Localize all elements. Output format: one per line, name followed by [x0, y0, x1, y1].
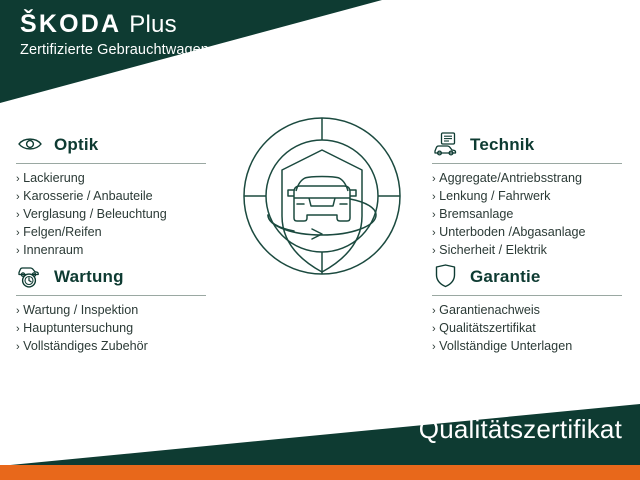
list-item-label: Bremsanlage [439, 206, 513, 224]
section-header: Optik [16, 130, 216, 158]
car-document-icon [432, 131, 462, 157]
list-item-label: Lackierung [23, 170, 85, 188]
brand-logo-line: ŠKODA Plus [20, 12, 209, 37]
list-item: ›Innenraum [16, 242, 216, 260]
car-clock-icon [16, 263, 46, 289]
section-title: Garantie [470, 268, 541, 285]
list-item-label: Lenkung / Fahrwerk [439, 188, 550, 206]
chevron-right-icon: › [432, 244, 436, 260]
section-divider [432, 295, 622, 296]
orange-accent-bar [0, 465, 640, 480]
list-item-label: Garantienachweis [439, 302, 540, 320]
chevron-right-icon: › [432, 172, 436, 188]
chevron-right-icon: › [432, 340, 436, 356]
list-item: ›Sicherheit / Elektrik [432, 242, 632, 260]
chevron-right-icon: › [432, 208, 436, 224]
list-item-label: Vollständiges Zubehör [23, 338, 148, 356]
section-divider [16, 163, 206, 164]
chevron-right-icon: › [432, 226, 436, 242]
brand-logo: ŠKODA Plus Zertifizierte Gebrauchtwagen [20, 12, 209, 58]
chevron-right-icon: › [16, 190, 20, 206]
chevron-right-icon: › [16, 304, 20, 320]
eye-icon [16, 131, 46, 157]
list-item: ›Garantienachweis [432, 302, 632, 320]
list-item-label: Qualitätszertifikat [439, 320, 536, 338]
list-item-label: Sicherheit / Elektrik [439, 242, 547, 260]
section-item-list: ›Garantienachweis ›Qualitätszertifikat ›… [432, 302, 632, 356]
list-item-label: Aggregate/Antriebsstrang [439, 170, 582, 188]
section-item-list: ›Aggregate/Antriebsstrang ›Lenkung / Fah… [432, 170, 632, 259]
chevron-right-icon: › [16, 172, 20, 188]
list-item: ›Felgen/Reifen [16, 224, 216, 242]
chevron-right-icon: › [432, 304, 436, 320]
brand-suffix: Plus [129, 13, 177, 37]
section-divider [16, 295, 206, 296]
brand-subtitle: Zertifizierte Gebrauchtwagen [20, 42, 209, 58]
certificate-page: ŠKODA Plus Zertifizierte Gebrauchtwagen … [0, 0, 640, 480]
list-item-label: Karosserie / Anbauteile [23, 188, 153, 206]
list-item: ›Unterboden /Abgasanlage [432, 224, 632, 242]
list-item: ›Wartung / Inspektion [16, 302, 216, 320]
list-item-label: Wartung / Inspektion [23, 302, 138, 320]
chevron-right-icon: › [432, 190, 436, 206]
list-item: ›Aggregate/Antriebsstrang [432, 170, 632, 188]
section-wartung: Wartung ›Wartung / Inspektion ›Hauptunte… [16, 262, 216, 356]
chevron-right-icon: › [16, 340, 20, 356]
list-item-label: Verglasung / Beleuchtung [23, 206, 167, 224]
section-title: Technik [470, 136, 534, 153]
section-header: Garantie [432, 262, 632, 290]
list-item: ›Verglasung / Beleuchtung [16, 206, 216, 224]
shield-icon [432, 263, 462, 289]
list-item: ›Vollständiges Zubehör [16, 338, 216, 356]
section-title: Optik [54, 136, 98, 153]
car-shield-certification-emblem [238, 112, 406, 299]
section-optik: Optik ›Lackierung ›Karosserie / Anbautei… [16, 130, 216, 259]
section-item-list: ›Wartung / Inspektion ›Hauptuntersuchung… [16, 302, 216, 356]
chevron-right-icon: › [16, 244, 20, 260]
brand-name: ŠKODA [20, 12, 121, 37]
footer-title: Qualitätszertifikat [419, 414, 622, 445]
list-item-label: Vollständige Unterlagen [439, 338, 572, 356]
section-header: Technik [432, 130, 632, 158]
list-item: ›Hauptuntersuchung [16, 320, 216, 338]
section-header: Wartung [16, 262, 216, 290]
section-garantie: Garantie ›Garantienachweis ›Qualitätszer… [432, 262, 632, 356]
list-item-label: Innenraum [23, 242, 83, 260]
list-item: ›Karosserie / Anbauteile [16, 188, 216, 206]
chevron-right-icon: › [16, 226, 20, 242]
list-item-label: Unterboden /Abgasanlage [439, 224, 585, 242]
list-item: ›Lackierung [16, 170, 216, 188]
section-technik: Technik ›Aggregate/Antriebsstrang ›Lenku… [432, 130, 632, 259]
section-item-list: ›Lackierung ›Karosserie / Anbauteile ›Ve… [16, 170, 216, 259]
list-item-label: Felgen/Reifen [23, 224, 101, 242]
section-divider [432, 163, 622, 164]
list-item-label: Hauptuntersuchung [23, 320, 133, 338]
list-item: ›Lenkung / Fahrwerk [432, 188, 632, 206]
list-item: ›Bremsanlage [432, 206, 632, 224]
list-item: ›Vollständige Unterlagen [432, 338, 632, 356]
chevron-right-icon: › [432, 322, 436, 338]
chevron-right-icon: › [16, 322, 20, 338]
section-title: Wartung [54, 268, 124, 285]
list-item: ›Qualitätszertifikat [432, 320, 632, 338]
chevron-right-icon: › [16, 208, 20, 224]
